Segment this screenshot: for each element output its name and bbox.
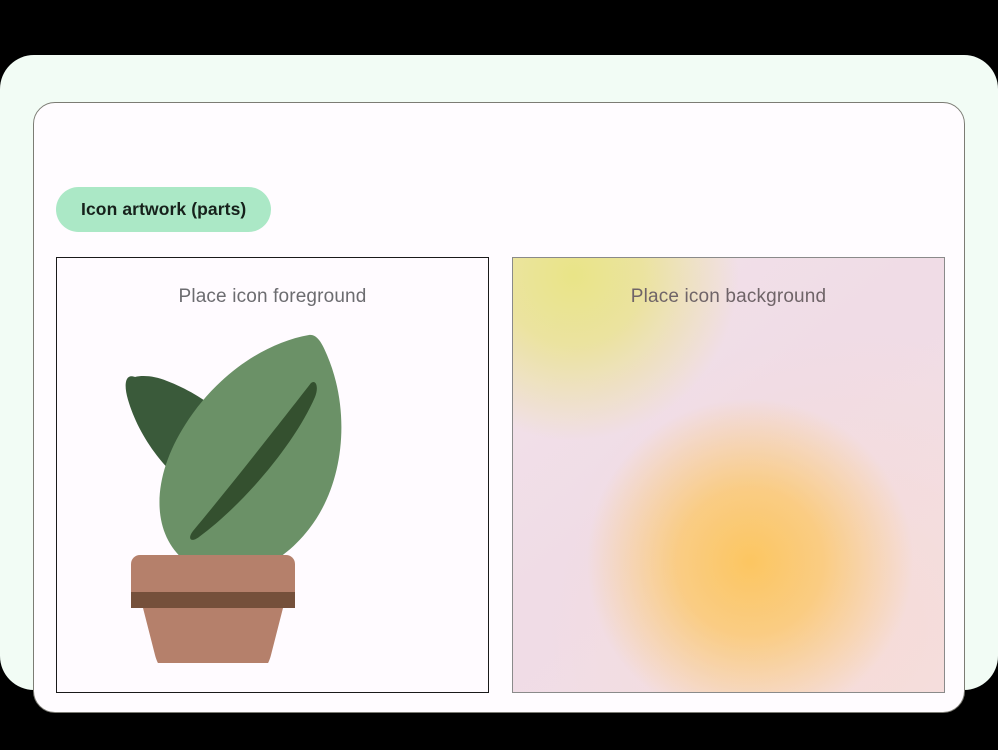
panel-icon-foreground[interactable]: Place icon foreground — [56, 257, 489, 693]
panel-background-label: Place icon background — [513, 286, 944, 308]
artwork-card: Icon artwork (parts) Place icon foregrou… — [33, 102, 965, 713]
outer-stage: Icon artwork (parts) Place icon foregrou… — [0, 55, 998, 690]
pot-band-shape — [131, 592, 295, 608]
leaf-front-shape — [159, 335, 341, 576]
panel-icon-background[interactable]: Place icon background — [512, 257, 945, 693]
badge-label: Icon artwork (parts) — [81, 199, 246, 220]
pot-body-shape — [143, 608, 283, 663]
panel-foreground-label: Place icon foreground — [57, 286, 488, 308]
status-badge: Icon artwork (parts) — [56, 187, 271, 232]
potted-plant-icon — [123, 333, 423, 663]
